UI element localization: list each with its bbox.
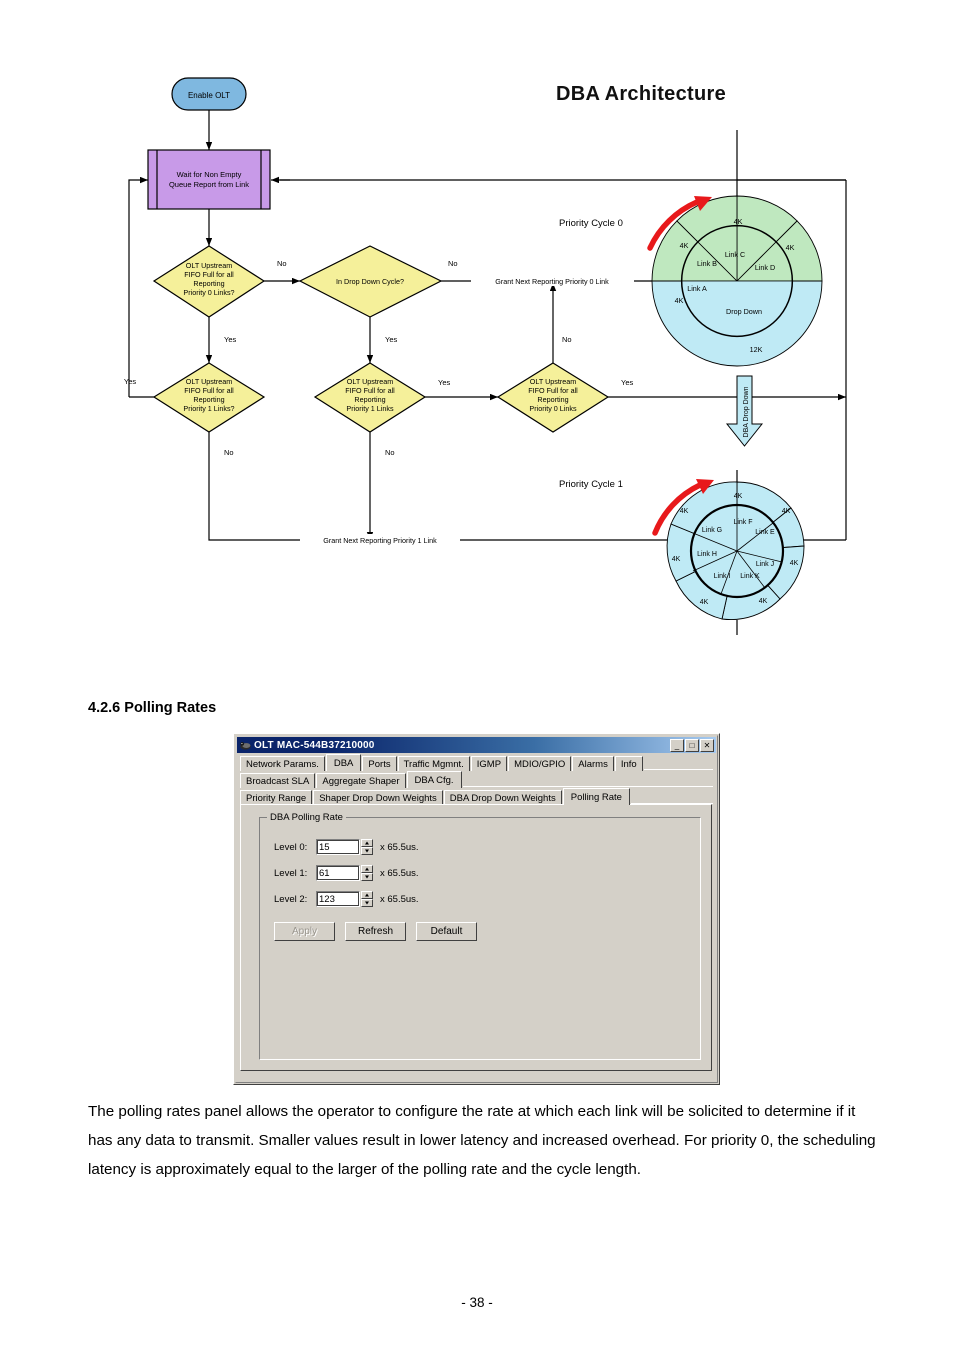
dialog-button-row[interactable]: Apply Refresh Default <box>274 922 477 941</box>
tab-mdio-gpio[interactable]: MDIO/GPIO <box>508 756 571 771</box>
level-2-spin-down-icon[interactable] <box>361 899 373 907</box>
node-decision-4-line2: FIFO Full for all <box>345 386 395 395</box>
level-0-spin-buttons[interactable] <box>361 839 373 855</box>
node-wait-line1: Wait for Non Empty <box>177 170 242 179</box>
level-0-spin-up-icon[interactable] <box>361 839 373 847</box>
level-2-input[interactable] <box>316 891 360 907</box>
priority-cycle-1-wheel: Link E Link E Link F Link G Link H Link … <box>655 479 804 620</box>
cycle1-inner-link-i: Link I <box>714 573 731 580</box>
edge-label-no-2: No <box>448 259 458 268</box>
node-decision-3-label: In Drop Down Cycle? <box>336 277 404 286</box>
cycle0-inner-link-b: Link B <box>697 259 717 268</box>
tab-priority-range[interactable]: Priority Range <box>240 790 312 805</box>
cycle0-inner-drop-down: Drop Down <box>726 307 762 316</box>
flowchart-svg: Enable OLT Wait for Non Empty Queue Repo… <box>0 0 954 660</box>
level-0-spinner[interactable] <box>316 839 373 855</box>
edge-label-yes-3: Yes <box>124 377 136 386</box>
edge-label-no-5: No <box>385 448 395 457</box>
level-1-unit: x 65.5us. <box>380 868 419 879</box>
polling-rate-pane: DBA Polling Rate Level 0: x 65.5us. Leve… <box>240 804 712 1071</box>
tab-igmp[interactable]: IGMP <box>471 756 507 771</box>
cycle1-inner-link-h: Link H <box>697 551 717 558</box>
priority-cycle-0-wheel: Link A Link B Link C Link D Drop Down 4K… <box>650 196 822 366</box>
tab-traffic-mgmnt[interactable]: Traffic Mgmnt. <box>398 756 470 771</box>
dialog-titlebar[interactable]: OLT MAC-544B37210000 _ □ ✕ <box>237 737 716 753</box>
cycle0-outer-4k-1: 4K <box>675 296 684 305</box>
edge-label-yes-2: Yes <box>385 335 397 344</box>
cycle0-outer-4k-2: 4K <box>680 241 689 250</box>
app-icon <box>239 739 252 752</box>
tab-row-primary-filler <box>644 769 713 771</box>
level-1-spinner[interactable] <box>316 865 373 881</box>
cycle1-outer-4k-3: 4K <box>790 560 799 567</box>
node-decision-2-line1: OLT Upstream <box>186 377 232 386</box>
node-decision-2-line4: Priority 1 Links? <box>183 404 234 413</box>
cycle1-outer-4k-4: 4K <box>759 598 768 605</box>
node-decision-1-line3: Reporting <box>193 279 224 288</box>
tab-polling-rate[interactable]: Polling Rate <box>563 788 630 805</box>
level-2-spin-up-icon[interactable] <box>361 891 373 899</box>
edge-label-grant-priority1: Grant Next Reporting Priority 1 Link <box>323 536 437 545</box>
cycle0-inner-link-a: Link A <box>687 284 707 293</box>
cycle1-inner-link-g: Link G <box>702 527 722 534</box>
tab-aggregate-shaper[interactable]: Aggregate Shaper <box>316 773 405 788</box>
edge-label-no-3: No <box>562 335 572 344</box>
cycle0-outer-4k-3: 4K <box>734 217 743 226</box>
cycle1-inner-link-j: Link J <box>756 561 774 568</box>
tab-shaper-drop-down-weights[interactable]: Shaper Drop Down Weights <box>313 790 443 805</box>
edge-label-yes-1: Yes <box>224 335 236 344</box>
cycle1-inner-link-k: Link K <box>740 573 760 580</box>
tab-dba-drop-down-weights[interactable]: DBA Drop Down Weights <box>444 790 562 805</box>
node-decision-4-line3: Reporting <box>354 395 385 404</box>
cycle0-outer-12k: 12K <box>750 345 763 354</box>
section-heading: 4.2.6 Polling Rates <box>88 700 216 716</box>
level-0-label: Level 0: <box>274 842 316 853</box>
node-decision-4-line4: Priority 1 Links <box>346 404 394 413</box>
node-decision-1-line1: OLT Upstream <box>186 261 232 270</box>
field-row-level-0: Level 0: x 65.5us. <box>274 838 419 856</box>
refresh-button[interactable]: Refresh <box>345 922 406 941</box>
cycle0-outer-4k-4: 4K <box>786 243 795 252</box>
level-2-spin-buttons[interactable] <box>361 891 373 907</box>
cycle1-inner-link-e-pos: Link E <box>755 529 775 536</box>
dba-polling-rate-groupbox-label: DBA Polling Rate <box>267 812 346 823</box>
tab-row-primary[interactable]: Network Params. DBA Ports Traffic Mgmnt.… <box>240 755 713 771</box>
field-row-level-2: Level 2: x 65.5us. <box>274 890 419 908</box>
node-decision-1-line2: FIFO Full for all <box>184 270 234 279</box>
dba-drop-down-arrow-label: DBA Drop Down <box>743 386 750 437</box>
level-1-spin-up-icon[interactable] <box>361 865 373 873</box>
level-2-label: Level 2: <box>274 894 316 905</box>
cycle1-inner-link-f: Link F <box>733 519 752 526</box>
dba-drop-down-arrow: DBA Drop Down <box>727 376 762 446</box>
node-decision-2-line2: FIFO Full for all <box>184 386 234 395</box>
level-0-spin-down-icon[interactable] <box>361 847 373 855</box>
minimize-button[interactable]: _ <box>670 739 684 752</box>
cycle0-caption: Priority Cycle 0 <box>559 218 623 229</box>
cycle1-outer-4k-6: 4K <box>672 556 681 563</box>
edge-label-no-4: No <box>224 448 234 457</box>
page-number: - 38 - <box>0 1295 954 1310</box>
default-button[interactable]: Default <box>416 922 477 941</box>
tab-row-tertiary[interactable]: Priority Range Shaper Drop Down Weights … <box>240 789 713 805</box>
edge-label-no-1: No <box>277 259 287 268</box>
node-decision-4-line1: OLT Upstream <box>347 377 393 386</box>
dba-architecture-figure: Enable OLT Wait for Non Empty Queue Repo… <box>0 0 954 660</box>
maximize-button[interactable]: □ <box>685 739 699 752</box>
level-0-unit: x 65.5us. <box>380 842 419 853</box>
olt-mac-dialog-window[interactable]: OLT MAC-544B37210000 _ □ ✕ Network Param… <box>233 733 720 1085</box>
edge-label-yes-5: Yes <box>621 378 633 387</box>
edge-label-yes-4: Yes <box>438 378 450 387</box>
cycle1-outer-4k-7: 4K <box>680 508 689 515</box>
node-wait-line2: Queue Report from Link <box>169 180 249 189</box>
figure-title: DBA Architecture <box>556 83 726 106</box>
apply-button[interactable]: Apply <box>274 922 335 941</box>
level-1-spin-buttons[interactable] <box>361 865 373 881</box>
cycle0-inner-link-c: Link C <box>725 250 745 259</box>
close-button[interactable]: ✕ <box>700 739 714 752</box>
cycle1-caption: Priority Cycle 1 <box>559 479 623 490</box>
cycle1-outer-4k-2: 4K <box>782 508 791 515</box>
node-decision-5-line2: FIFO Full for all <box>528 386 578 395</box>
tab-ports[interactable]: Ports <box>362 756 396 771</box>
level-1-label: Level 1: <box>274 868 316 879</box>
tab-network-params[interactable]: Network Params. <box>240 756 325 771</box>
tab-broadcast-sla[interactable]: Broadcast SLA <box>240 773 315 788</box>
edge-label-grant-priority0: Grant Next Reporting Priority 0 Link <box>495 277 609 286</box>
field-row-level-1: Level 1: x 65.5us. <box>274 864 419 882</box>
level-2-spinner[interactable] <box>316 891 373 907</box>
level-2-unit: x 65.5us. <box>380 894 419 905</box>
cycle0-inner-link-d: Link D <box>755 263 775 272</box>
dialog-title: OLT MAC-544B37210000 <box>254 740 670 751</box>
tab-row-secondary[interactable]: Broadcast SLA Aggregate Shaper DBA Cfg. <box>240 772 713 788</box>
tab-dba-cfg[interactable]: DBA Cfg. <box>407 771 462 788</box>
body-paragraph: The polling rates panel allows the opera… <box>88 1097 878 1184</box>
node-decision-1-line4: Priority 0 Links? <box>183 288 234 297</box>
tab-dba[interactable]: DBA <box>326 754 362 771</box>
cycle1-outer-4k-5: 4K <box>700 599 709 606</box>
dba-polling-rate-groupbox: DBA Polling Rate Level 0: x 65.5us. Leve… <box>259 817 701 1060</box>
level-1-input[interactable] <box>316 865 360 881</box>
node-decision-5-line3: Reporting <box>537 395 568 404</box>
tab-info[interactable]: Info <box>615 756 643 771</box>
level-1-spin-down-icon[interactable] <box>361 873 373 881</box>
tab-alarms[interactable]: Alarms <box>572 756 614 771</box>
node-decision-2-line3: Reporting <box>193 395 224 404</box>
window-controls[interactable]: _ □ ✕ <box>670 739 714 752</box>
node-decision-5-line4: Priority 0 Links <box>529 404 577 413</box>
level-0-input[interactable] <box>316 839 360 855</box>
node-decision-5-line1: OLT Upstream <box>530 377 576 386</box>
node-start-label: Enable OLT <box>188 91 230 100</box>
cycle1-outer-4k-1: 4K <box>734 493 743 500</box>
